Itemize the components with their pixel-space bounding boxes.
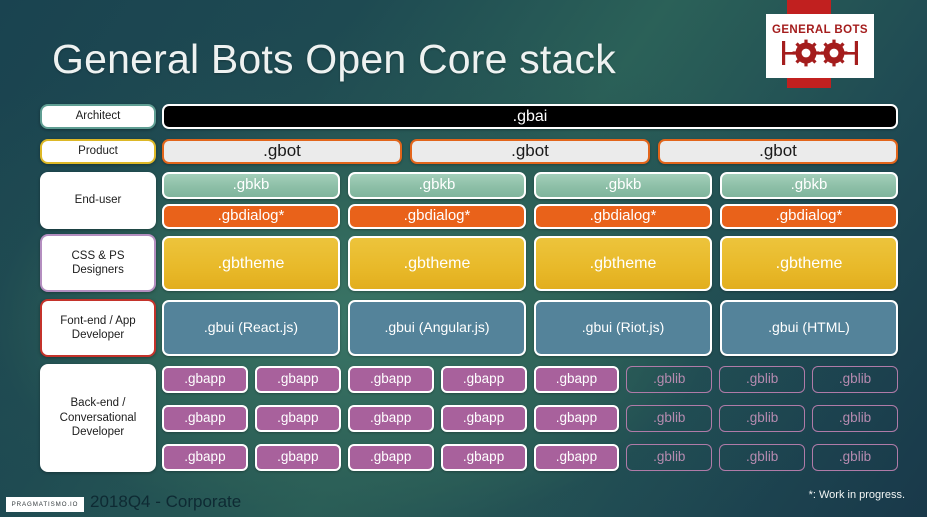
gears-icon — [774, 38, 866, 68]
gblib-cell-0-7: .gblib — [812, 366, 898, 393]
gbapp-cell-1-1: .gbapp — [255, 405, 341, 432]
role-label-3: CSS & PS Designers — [40, 234, 156, 292]
gbui-row-cell-1: .gbui (Angular.js) — [348, 300, 526, 356]
general-bots-logo: GENERAL BOTS — [766, 14, 874, 78]
role-label-text: Product — [78, 144, 118, 158]
gbdialog-row-cell-1: .gbdialog* — [348, 204, 526, 229]
gbtheme-row-cell-2: .gbtheme — [534, 236, 712, 291]
gblib-cell-1-5: .gblib — [626, 405, 712, 432]
role-label-text: End-user — [75, 193, 122, 207]
gbkb-row-cell-3: .gbkb — [720, 172, 898, 199]
gbtheme-row-cell-1: .gbtheme — [348, 236, 526, 291]
gbdialog-row-cell-0: .gbdialog* — [162, 204, 340, 229]
gbapp-cell-0-4: .gbapp — [534, 366, 620, 393]
gbapp-cell-2-0: .gbapp — [162, 444, 248, 471]
gbot-row-cell-0: .gbot — [162, 139, 402, 164]
gbapp-cell-1-4: .gbapp — [534, 405, 620, 432]
page-title: General Bots Open Core stack — [52, 36, 616, 83]
gbot-row-cell-2: .gbot — [658, 139, 898, 164]
role-label-text: CSS & PS Designers — [71, 249, 124, 278]
gbkb-row-cell-2: .gbkb — [534, 172, 712, 199]
role-label-5: Back-end / Conversational Developer — [40, 364, 156, 472]
gbapp-cell-2-4: .gbapp — [534, 444, 620, 471]
gblib-cell-2-7: .gblib — [812, 444, 898, 471]
pragmatismo-logo: PRAGMATISMO.IO — [6, 497, 84, 512]
gbapp-cell-0-1: .gbapp — [255, 366, 341, 393]
gbapp-cell-1-2: .gbapp — [348, 405, 434, 432]
gbkb-row-cell-1: .gbkb — [348, 172, 526, 199]
gbapp-cell-1-0: .gbapp — [162, 405, 248, 432]
work-in-progress-note: *: Work in progress. — [809, 489, 905, 501]
gbapp-cell-1-3: .gbapp — [441, 405, 527, 432]
role-label-4: Font-end / App Developer — [40, 299, 156, 357]
gbtheme-row-cell-0: .gbtheme — [162, 236, 340, 291]
gbapp-cell-2-3: .gbapp — [441, 444, 527, 471]
pragmatismo-wordmark: PRAGMATISMO.IO — [12, 501, 79, 508]
role-label-2: End-user — [40, 172, 156, 229]
gblib-cell-1-6: .gblib — [719, 405, 805, 432]
footer-caption: 2018Q4 - Corporate — [90, 492, 241, 512]
gbui-row-cell-2: .gbui (Riot.js) — [534, 300, 712, 356]
gbdialog-row-cell-3: .gbdialog* — [720, 204, 898, 229]
gblib-cell-0-5: .gblib — [626, 366, 712, 393]
gbapp-cell-2-2: .gbapp — [348, 444, 434, 471]
gblib-cell-0-6: .gblib — [719, 366, 805, 393]
gbdialog-row-cell-2: .gbdialog* — [534, 204, 712, 229]
gblib-cell-2-6: .gblib — [719, 444, 805, 471]
gblib-cell-2-5: .gblib — [626, 444, 712, 471]
role-label-1: Product — [40, 139, 156, 164]
gbot-row-cell-1: .gbot — [410, 139, 650, 164]
role-label-text: Back-end / Conversational Developer — [60, 396, 137, 439]
slide-canvas: GENERAL BOTS — [0, 0, 927, 517]
gbkb-row-cell-0: .gbkb — [162, 172, 340, 199]
logo-wordmark: GENERAL BOTS — [772, 24, 868, 36]
gblib-cell-1-7: .gblib — [812, 405, 898, 432]
gbapp-cell-2-1: .gbapp — [255, 444, 341, 471]
gbapp-cell-0-2: .gbapp — [348, 366, 434, 393]
gbtheme-row-cell-3: .gbtheme — [720, 236, 898, 291]
gbui-row-cell-3: .gbui (HTML) — [720, 300, 898, 356]
gbui-row-cell-0: .gbui (React.js) — [162, 300, 340, 356]
gbapp-cell-0-0: .gbapp — [162, 366, 248, 393]
role-label-text: Font-end / App Developer — [60, 314, 135, 343]
role-label-0: Architect — [40, 104, 156, 129]
gbapp-cell-0-3: .gbapp — [441, 366, 527, 393]
role-label-text: Architect — [76, 109, 121, 123]
gbai-row-cell-0: .gbai — [162, 104, 898, 129]
